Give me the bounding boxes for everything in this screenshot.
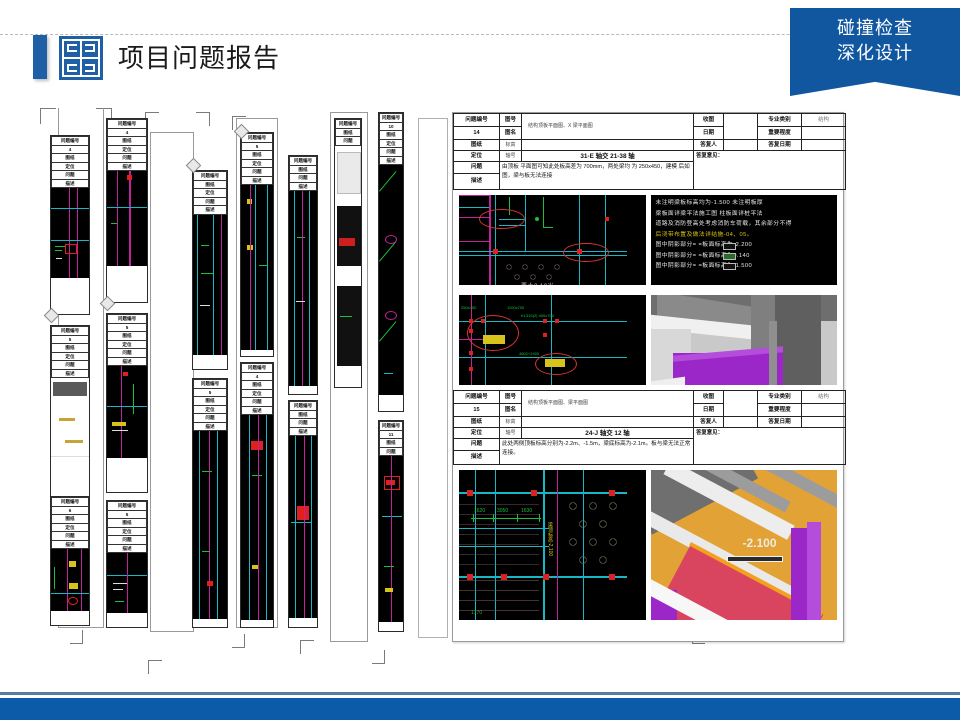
list-item[interactable]: 问题编号 4 图纸 定位 问题 描述 — [106, 118, 148, 303]
thumb-label: 图纸 — [194, 180, 227, 189]
cad-thumbnail — [51, 549, 89, 611]
label-reply-opinion[interactable]: 答复意见： — [694, 428, 846, 465]
list-item[interactable]: 问题编号 图纸 定位 问题 描述 — [192, 170, 228, 370]
label-issue-desc-1: 问题 — [454, 439, 500, 451]
thumb-label: 问题编号 — [290, 157, 317, 166]
value-issue-no: 14 — [454, 127, 500, 140]
label-elevation: 标高 — [500, 140, 522, 151]
note-line: 图中阴影部分= =板面标高为0.140 — [656, 252, 833, 260]
list-item[interactable]: 问题编号 5 图纸 定位 问题 描述 — [240, 132, 274, 357]
thumb-label: 问题 — [290, 419, 317, 428]
thumb-label: 描述 — [380, 156, 403, 165]
thumb-label: 问题编号 — [108, 315, 147, 324]
thumb-label: 描述 — [108, 544, 147, 553]
label-reply-date: 答复日期 — [758, 140, 802, 151]
label-issue-no: 问题编号 — [454, 391, 500, 404]
thumb-label: 问题 — [290, 174, 317, 183]
annotation-ellipse — [479, 209, 525, 229]
logo — [33, 34, 111, 82]
label-issue-desc-2: 描述 — [454, 451, 500, 465]
cad-thumbnail — [51, 188, 89, 278]
thumb-label: 定位 — [242, 389, 273, 398]
thumb-label: 问题 — [194, 414, 227, 423]
thumb-issue-no: 5 — [242, 142, 273, 151]
crop-mark — [196, 112, 212, 128]
report-sheet[interactable]: 问题编号 图号 结构顶板平面图、X 梁平面图 收图 专业类别 结构 14 图名 … — [452, 112, 844, 642]
crop-mark — [232, 634, 248, 650]
thumb-label: 定位 — [108, 527, 147, 536]
thumb-label: 问题编号 — [336, 120, 361, 129]
thumb-label: 问题编号 — [52, 137, 89, 146]
footer-accent-line — [0, 692, 960, 695]
cad-thumbnail — [107, 171, 147, 266]
label-axis: 轴号 — [500, 428, 522, 439]
thumb-label: 描述 — [194, 422, 227, 431]
list-item[interactable]: 问题编号 4 图纸 定位 问题 描述 — [240, 362, 274, 628]
note-line: 道路及消防登高处考虑消防车荷载，其余部分不得 — [656, 220, 833, 228]
cad-thumbnail — [289, 436, 317, 618]
cad-thumbnail — [107, 366, 147, 458]
cad-thumbnail — [193, 431, 227, 619]
label-issue-desc-2: 描述 — [454, 174, 500, 190]
render-thumbnail — [335, 146, 361, 376]
label-major-type: 专业类别 — [758, 391, 802, 404]
thumb-label: 问题编号 — [242, 364, 273, 373]
thumb-label: 描述 — [108, 357, 147, 366]
cad-thumbnail — [379, 456, 403, 622]
value-reply-date[interactable] — [802, 417, 846, 428]
thumb-label: 描述 — [52, 540, 89, 549]
crop-mark — [300, 640, 316, 656]
thumb-label: 问题编号 — [108, 120, 147, 129]
label-replier: 答复人 — [694, 140, 724, 151]
thumb-label: 问题编号 — [52, 327, 89, 336]
cad-label: 250x450 — [461, 305, 476, 310]
note-line: 图中阴影部分= =板面标高为-2.200 — [656, 241, 833, 249]
thumb-issue-no: 5 — [52, 335, 89, 344]
thumb-label: 问题 — [108, 536, 147, 545]
cad-label: 1100x700 — [507, 305, 524, 310]
thumb-label: 描述 — [242, 176, 273, 185]
annotation-ellipse — [563, 243, 609, 262]
cad-label-cover-depth: 覆土2.10米 — [521, 281, 554, 285]
value-replier[interactable] — [724, 417, 758, 428]
thumb-label: 问题 — [242, 168, 273, 177]
thumb-label: 描述 — [52, 369, 89, 378]
value-elevation[interactable] — [522, 417, 694, 428]
label-reply-opinion[interactable]: 答复意见： — [694, 151, 846, 190]
cad-label: 4802+2400 — [519, 351, 539, 356]
label-elevation: 标高 — [500, 417, 522, 428]
thumb-label: 问题编号 — [242, 134, 273, 143]
label-dwg-name: 图名 — [500, 404, 522, 417]
list-item[interactable]: 问题编号 4 图纸 定位 问题 描述 — [50, 135, 90, 315]
crop-mark — [148, 660, 164, 676]
guide-frame — [418, 118, 448, 638]
label-issue-desc-1: 问题 — [454, 162, 500, 174]
page-title: 项目问题报告 — [118, 38, 280, 75]
legend-swatch-icon — [723, 243, 736, 250]
thumb-label: 图纸 — [52, 344, 89, 353]
crop-mark — [372, 650, 388, 666]
value-issue-description: 由顶板 平面图可知此处板高差为 700mm，两处梁均 为 250x450，建模 … — [500, 162, 694, 190]
block1-image-row-bottom: 250x450 KL315(2) 400x700 1100x700 4802+2… — [453, 290, 843, 390]
thumb-issue-no: 4 — [242, 372, 273, 381]
thumb-label: 图纸 — [194, 397, 227, 406]
value-major-type: 结构 — [802, 391, 846, 404]
label-issue-no: 问题编号 — [454, 114, 500, 127]
thumb-label: 定位 — [52, 162, 89, 171]
thumb-label: 定位 — [52, 523, 89, 532]
guide-frame — [150, 132, 194, 632]
label-dwg-no: 图号 — [500, 114, 522, 127]
thumb-label: 图纸 — [242, 381, 273, 390]
thumb-label: 描述 — [290, 182, 317, 191]
thumb-label: 问题编号 — [108, 502, 147, 511]
cad-thumbnail — [193, 215, 227, 355]
thumb-label: 问题 — [108, 349, 147, 358]
thumb-label: 问题编号 — [52, 498, 89, 507]
label-importance: 重要程度 — [758, 404, 802, 417]
note-panel-image[interactable]: 未注明梁板标高均为-1.500 未注明板厚 梁板面详梁平法施工图 柱板面详桩平法… — [651, 195, 838, 285]
cad-detail-image-1[interactable]: 250x450 KL315(2) 400x700 1100x700 4802+2… — [459, 295, 646, 385]
list-item[interactable]: 问题编号 5 图纸 定位 问题 描述 — [106, 500, 148, 628]
legend-swatch-icon — [723, 253, 736, 260]
label-dwg-locate-1: 图纸 — [454, 417, 500, 428]
thumb-label: 图纸 — [52, 515, 89, 524]
thumb-issue-no: 5 — [108, 510, 147, 519]
thumb-label: 问题编号 — [290, 402, 317, 411]
thumb-label: 描述 — [242, 406, 273, 415]
cad-thumbnail — [289, 191, 317, 386]
value-importance[interactable] — [802, 127, 846, 140]
label-dwg-locate-1: 图纸 — [454, 140, 500, 151]
thumb-label: 定位 — [194, 189, 227, 198]
thumb-label: 问题 — [336, 137, 361, 146]
thumb-label: 问题 — [108, 154, 147, 163]
ribbon-line-1: 碰撞检查 — [790, 16, 960, 41]
value-elevation[interactable] — [522, 140, 694, 151]
annotation-ellipse — [467, 315, 519, 351]
thumb-issue-no: 4 — [108, 128, 147, 137]
value-issue-no: 15 — [454, 404, 500, 417]
thumb-label: 图纸 — [290, 165, 317, 174]
value-reply-date[interactable] — [802, 140, 846, 151]
thumb-label: 定位 — [108, 340, 147, 349]
value-axis: 31-E 轴交 21-38 轴 — [522, 151, 694, 162]
logo-bar-icon — [33, 35, 47, 79]
label-dwg-name: 图名 — [500, 127, 522, 140]
note-line: 未注明梁板标高均为-1.500 未注明板厚 — [656, 199, 833, 207]
note-line: 梁板面详梁平法施工图 柱板面详桩平法 — [656, 210, 833, 218]
thumb-label: 问题 — [52, 171, 89, 180]
thumb-label: 图纸 — [290, 410, 317, 419]
list-item[interactable]: 问题编号 5 图纸 定位 问题 描述 — [106, 313, 148, 493]
thumb-issue-no: 4 — [52, 145, 89, 154]
label-recv-dwg: 收图 — [694, 114, 724, 127]
legend-swatch-icon — [723, 263, 736, 270]
cad-thumbnail — [241, 415, 273, 620]
report-table-block-2: 问题编号 图号 结构顶板平面图、梁平面图 收图 专业类别 结构 15 图名 日期… — [453, 390, 846, 465]
label-dwg-locate-2: 定位 — [454, 151, 500, 162]
value-recv-date[interactable] — [724, 114, 758, 140]
thumb-label: 问题编号 — [194, 380, 227, 389]
list-item[interactable]: 问题编号 图纸 问题 — [334, 118, 362, 388]
label-major-type: 专业类别 — [758, 114, 802, 127]
thumb-label: 图纸 — [380, 439, 403, 448]
thumb-label: 定位 — [108, 145, 147, 154]
value-importance[interactable] — [802, 404, 846, 417]
thumb-label: 问题 — [242, 398, 273, 407]
thumb-label: 问题 — [52, 361, 89, 370]
cad-thumbnail — [379, 165, 403, 395]
thumb-issue-no: 5 — [108, 323, 147, 332]
drawing-notes: 未注明梁板标高均为-1.500 未注明板厚 梁板面详梁平法施工图 柱板面详桩平法… — [651, 195, 838, 285]
thumb-label: 图纸 — [108, 137, 147, 146]
ribbon-line-2: 深化设计 — [790, 41, 960, 66]
value-issue-description: 此处两侧顶板标高分别为-2.2m、-1.5m，梁底标高为-2.1m。板与梁无法正… — [500, 439, 694, 465]
thumb-label: 图纸 — [108, 332, 147, 341]
list-item[interactable]: 问题编号 11 图纸 问题 — [378, 420, 404, 632]
list-item[interactable]: 问题编号 5 图纸 定位 问题 描述 — [192, 378, 228, 628]
crop-mark — [70, 630, 86, 646]
list-item[interactable]: 问题编号 5 图纸 定位 问题 描述 — [50, 325, 90, 500]
thumb-label: 问题编号 — [380, 422, 403, 431]
footer-bar — [0, 698, 960, 720]
thumb-label: 问题 — [380, 447, 403, 456]
thumb-label: 图纸 — [380, 131, 403, 140]
thumb-label: 定位 — [52, 352, 89, 361]
thumb-label: 问题编号 — [194, 172, 227, 181]
label-replier: 答复人 — [694, 417, 724, 428]
cad-label: KL315(2) 400x700 — [521, 313, 554, 318]
thumb-label: 定位 — [242, 159, 273, 168]
thumb-label: 图纸 — [52, 154, 89, 163]
thumb-label: 问题 — [380, 148, 403, 157]
label-dwg-no: 图号 — [500, 391, 522, 404]
thumb-label: 问题 — [194, 197, 227, 206]
block2-image-row: 1620 3050 1630 1770 梁顶标高-2.100 — [453, 465, 843, 625]
thumb-label: 图纸 — [242, 151, 273, 160]
thumb-issue-no: 5 — [194, 388, 227, 397]
label-importance: 重要程度 — [758, 127, 802, 140]
thumb-label: 定位 — [194, 405, 227, 414]
label-recv-dwg: 收图 — [694, 391, 724, 404]
label-recv-date: 日期 — [694, 127, 724, 140]
list-item[interactable]: 问题编号 6 图纸 定位 问题 描述 — [50, 496, 90, 626]
bim-render-image-1[interactable] — [651, 295, 838, 385]
cad-plan-image-1[interactable]: 覆土2.10米 — [459, 195, 646, 285]
value-major-type: 结构 — [802, 114, 846, 127]
slide-canvas: 项目问题报告 碰撞检查 深化设计 问题 — [0, 0, 960, 720]
list-item[interactable]: 问题编号 10 图纸 定位 问题 描述 — [378, 112, 404, 412]
value-dwg-name: 结构顶板平面图、梁平面图 — [522, 391, 694, 417]
thumb-issue-no: 11 — [380, 430, 403, 439]
thumb-label: 问题 — [52, 532, 89, 541]
list-item[interactable]: 问题编号 图纸 问题 描述 — [288, 400, 318, 628]
annotation-ellipse — [535, 353, 577, 375]
emblem-square-icon — [59, 36, 103, 80]
thumb-label: 定位 — [380, 139, 403, 148]
cad-thumbnail — [241, 185, 273, 350]
thumb-issue-no: 6 — [52, 506, 89, 515]
value-recv-date[interactable] — [724, 391, 758, 417]
label-reply-date: 答复日期 — [758, 417, 802, 428]
thumb-issue-no: 10 — [380, 122, 403, 131]
thumb-label: 图纸 — [336, 128, 361, 137]
value-axis: 24-J 轴交 12 轴 — [522, 428, 694, 439]
thumb-label: 问题编号 — [380, 114, 403, 123]
cad-plan-image-2[interactable]: 1620 3050 1630 1770 梁顶标高-2.100 — [459, 470, 646, 620]
thumb-label: 描述 — [194, 206, 227, 215]
thumb-label: 描述 — [290, 427, 317, 436]
thumb-label: 描述 — [52, 179, 89, 188]
label-recv-date: 日期 — [694, 404, 724, 417]
topic-ribbon: 碰撞检查 深化设计 — [790, 8, 960, 96]
render-elevation-label: -2.100 — [743, 536, 777, 550]
label-axis: 轴号 — [500, 151, 522, 162]
crop-mark — [40, 108, 56, 124]
block1-image-row-top: 覆土2.10米 未注明梁板标高均为-1.500 未注明板厚 梁板面详梁平法施工图… — [453, 190, 843, 290]
note-line: 图中阴影部分= =板面标高为-1.500 — [656, 262, 833, 270]
note-line-highlight: 后浇带布置及做法详结施-04、05。 — [656, 231, 833, 239]
bim-render-image-2[interactable]: -2.100 — [651, 470, 838, 620]
cad-thumbnail — [107, 553, 147, 613]
value-dwg-name: 结构顶板平面图、X 梁平面图 — [522, 114, 694, 140]
list-item[interactable]: 问题编号 图纸 问题 描述 — [288, 155, 318, 395]
label-dwg-locate-2: 定位 — [454, 428, 500, 439]
value-replier[interactable] — [724, 140, 758, 151]
report-table-block-1: 问题编号 图号 结构顶板平面图、X 梁平面图 收图 专业类别 结构 14 图名 … — [453, 113, 846, 190]
thumb-label: 图纸 — [108, 519, 147, 528]
thumb-label: 描述 — [108, 162, 147, 171]
render-thumbnail — [51, 378, 89, 463]
